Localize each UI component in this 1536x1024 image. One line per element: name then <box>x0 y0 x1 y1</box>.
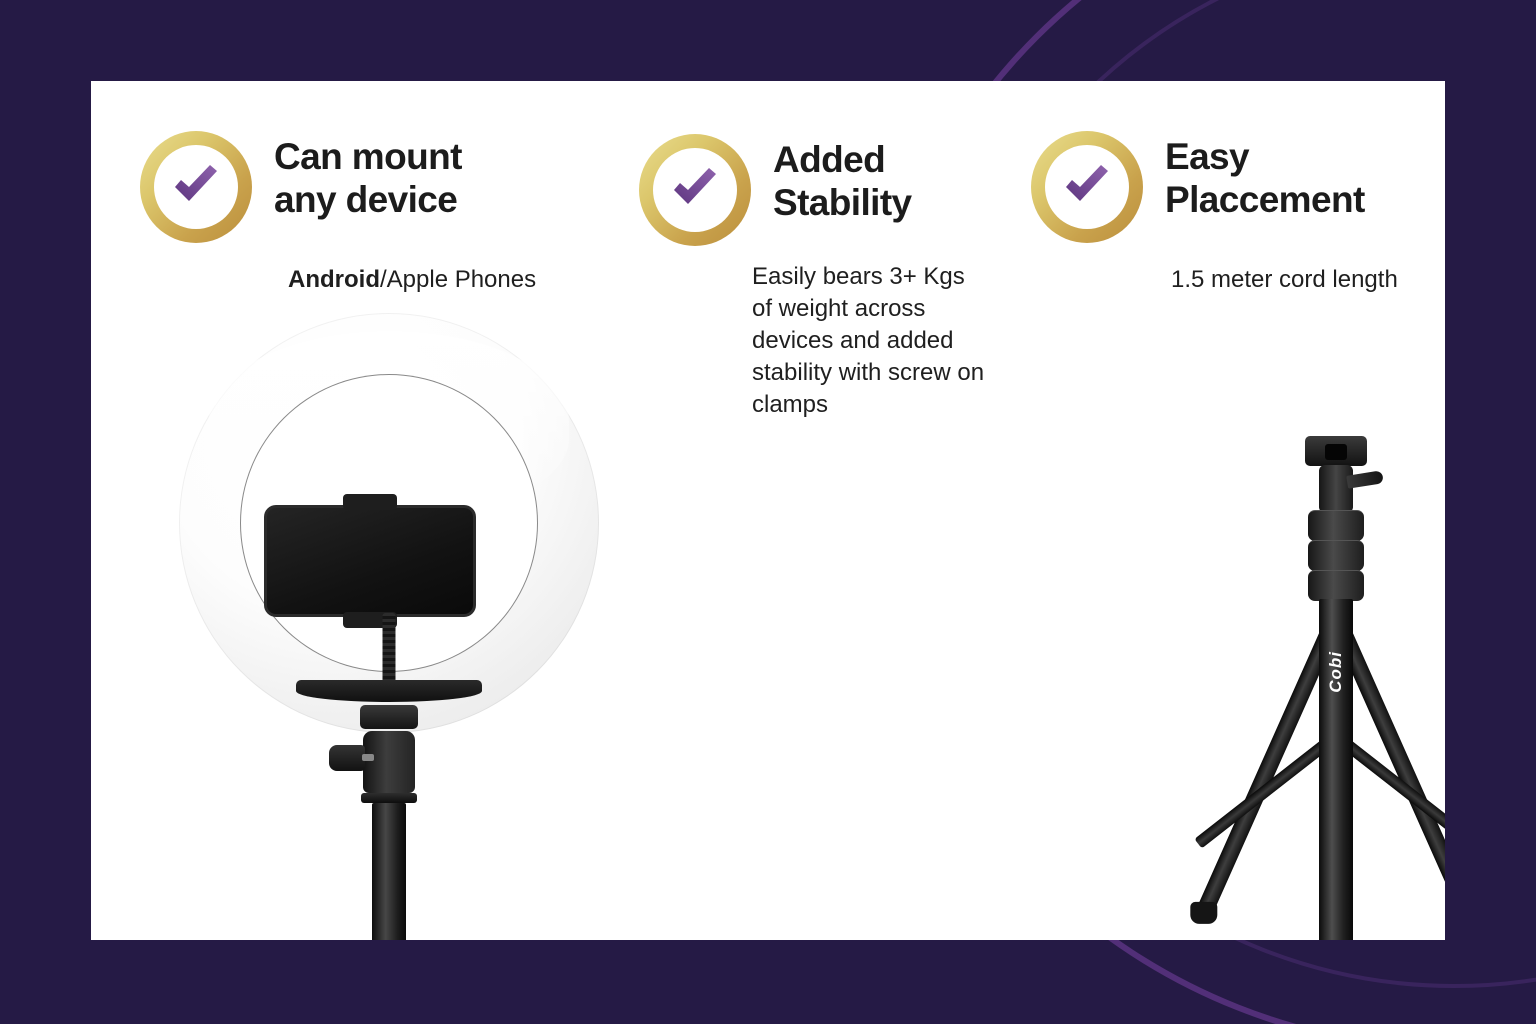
badge-inner-disc <box>1045 145 1129 229</box>
feature-header-placement: Easy Placcement <box>1031 131 1365 243</box>
feature-title-block-placement: Easy Placcement <box>1165 131 1365 222</box>
feature-title-block-stability: Added Stability <box>773 134 912 225</box>
ring-light-base-plate <box>296 680 482 702</box>
checkmark-icon <box>1060 160 1114 214</box>
check-circle-icon <box>140 131 252 243</box>
phone-holder-large <box>264 505 476 617</box>
feature-card: Can mount any device Android/Apple Phone… <box>91 81 1445 940</box>
feature-column-placement: Easy Placcement 1.5 meter cord length <box>1011 81 1445 940</box>
feature-subtitle-mount: Android/Apple Phones <box>288 264 618 296</box>
mounted-phone <box>264 505 476 617</box>
ball-head-lock-ring <box>361 793 417 803</box>
ball-head-body <box>363 731 415 793</box>
feature-subtitle-placement: 1.5 meter cord length <box>1171 264 1441 296</box>
ball-head-mount-large <box>360 705 418 940</box>
feature-column-stability: Added Stability Easily bears 3+ Kgs of w… <box>611 81 1011 940</box>
product-image-ring-light-large: WRO <box>179 313 599 938</box>
feature-title-block-mount: Can mount any device <box>274 131 462 222</box>
feature-column-mount: Can mount any device Android/Apple Phone… <box>91 81 611 940</box>
badge-inner-disc <box>154 145 238 229</box>
feature-title-placement: Easy Placcement <box>1165 135 1365 222</box>
check-circle-icon <box>639 134 751 246</box>
feature-subtitle-strong-mount: Android <box>288 266 380 293</box>
feature-title-mount: Can mount any device <box>274 135 462 222</box>
phone-clip-top <box>343 494 397 510</box>
feature-title-stability: Added Stability <box>773 138 912 225</box>
checkmark-icon <box>668 163 722 217</box>
badge-inner-disc <box>653 148 737 232</box>
thumb-screw-knob <box>329 745 365 771</box>
checkmark-icon <box>169 160 223 214</box>
stand-pole-large <box>372 803 406 940</box>
infographic-canvas: Can mount any device Android/Apple Phone… <box>0 0 1536 1024</box>
tripod-brand-label: Cobi <box>1326 651 1346 693</box>
feature-header-stability: Added Stability <box>639 134 912 246</box>
feature-header-mount: Can mount any device <box>140 131 462 243</box>
feature-subtitle-stability: Easily bears 3+ Kgs of weight across dev… <box>752 261 987 421</box>
feature-subtitle-rest-mount: /Apple Phones <box>380 266 536 293</box>
ball-head-collar <box>360 705 418 729</box>
check-circle-icon <box>1031 131 1143 243</box>
